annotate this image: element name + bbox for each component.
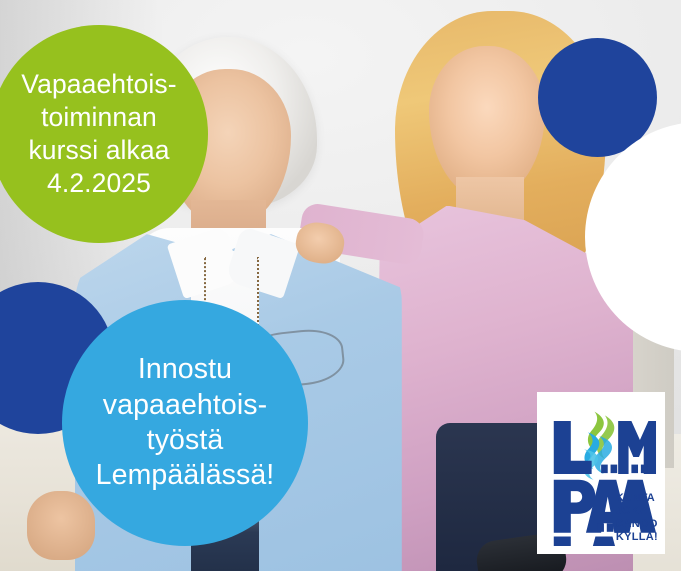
logo-tagline: KUNTA JOKA SANOO KYLLÄ! xyxy=(616,492,658,544)
elderly-woman-hand xyxy=(27,491,95,560)
blue-call-to-action-bubble: Innostu vapaaehtois- työstä Lempäälässä! xyxy=(62,300,308,546)
blue-bubble-text: Innostu vapaaehtois- työstä Lempäälässä! xyxy=(88,352,283,493)
poster-canvas: Vapaaehtois- toiminnan kurssi alkaa 4.2.… xyxy=(0,0,681,571)
lempaala-logo: KUNTA JOKA SANOO KYLLÄ! xyxy=(537,392,665,554)
green-announcement-bubble: Vapaaehtois- toiminnan kurssi alkaa 4.2.… xyxy=(0,25,208,243)
green-bubble-text: Vapaaehtois- toiminnan kurssi alkaa 4.2.… xyxy=(13,68,184,199)
